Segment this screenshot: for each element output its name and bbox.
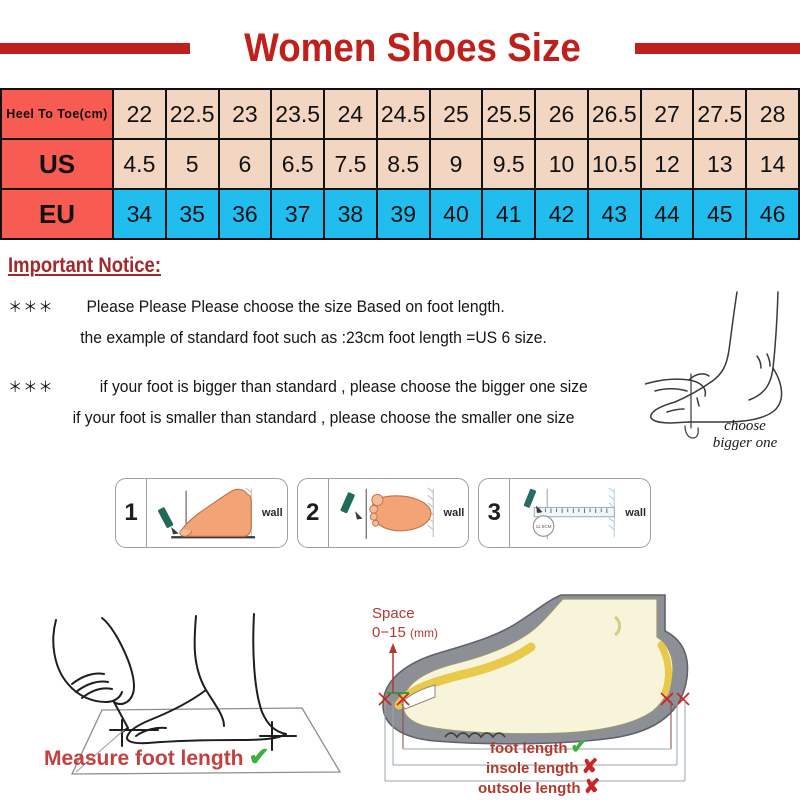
cell-eu-8: 42 <box>535 189 588 239</box>
step-2-wall-label: wall <box>444 507 465 519</box>
cell-cm-4: 24 <box>324 89 377 139</box>
table-row-eu: EU 34 35 36 37 38 39 40 41 42 43 44 45 4… <box>1 189 799 239</box>
row-label-eu: EU <box>1 189 113 239</box>
row-label-us: US <box>1 139 113 189</box>
cell-us-9: 10.5 <box>588 139 641 189</box>
cell-eu-1: 35 <box>166 189 219 239</box>
step-2-number: 2 <box>298 479 329 547</box>
cell-cm-12: 28 <box>746 89 799 139</box>
insole-length-label: insole length <box>486 760 579 777</box>
cell-cm-7: 25.5 <box>482 89 535 139</box>
important-notice-body: ＊＊＊ Please Please Please choose the size… <box>8 292 698 434</box>
page-title: Women Shoes Size <box>208 28 617 68</box>
notice-line-3: ＊＊＊ if your foot is bigger than standard… <box>8 372 664 403</box>
step-box-1: 1 <box>115 478 288 548</box>
cell-eu-7: 41 <box>482 189 535 239</box>
cell-us-0: 4.5 <box>113 139 166 189</box>
choose-bigger-one-caption: choose bigger one <box>690 418 800 452</box>
title-rule-left <box>0 43 190 54</box>
step-2-illustration: wall <box>329 479 469 547</box>
notice-line-2-text: the example of standard foot such as :23… <box>80 329 547 347</box>
cell-eu-11: 45 <box>693 189 746 239</box>
step-1-illustration: wall <box>147 479 287 547</box>
cell-eu-5: 39 <box>377 189 430 239</box>
cell-cm-2: 23 <box>219 89 272 139</box>
title-rule-right <box>635 43 800 54</box>
outsole-length-row: outsole length✘ <box>478 778 600 798</box>
step-1-number: 1 <box>116 479 147 547</box>
cell-us-2: 6 <box>219 139 272 189</box>
space-gap-label: Space 0−15 (mm) <box>372 604 438 643</box>
cell-eu-2: 36 <box>219 189 272 239</box>
notice-line-3-text: if your foot is bigger than standard , p… <box>100 378 588 396</box>
cell-us-12: 14 <box>746 139 799 189</box>
cell-us-4: 7.5 <box>324 139 377 189</box>
space-label-line-2: 0−15 (mm) <box>372 623 438 643</box>
cell-eu-12: 46 <box>746 189 799 239</box>
space-range-value: 0−15 <box>372 624 406 641</box>
cell-eu-6: 40 <box>430 189 483 239</box>
notice-stars-1: ＊＊＊ <box>8 299 54 316</box>
table-row-heel-to-toe: Heel To Toe(cm) 22 22.5 23 23.5 24 24.5 … <box>1 89 799 139</box>
cell-cm-6: 25 <box>430 89 483 139</box>
notice-line-2: the example of standard foot such as :23… <box>8 323 664 354</box>
step-3-number: 3 <box>479 479 510 547</box>
measure-foot-length-label: Measure foot length✔ <box>44 742 269 772</box>
cell-us-6: 9 <box>430 139 483 189</box>
cell-eu-0: 34 <box>113 189 166 239</box>
notice-stars-2: ＊＊＊ <box>8 379 54 396</box>
measure-steps-row: 1 <box>115 478 651 548</box>
cell-cm-8: 26 <box>535 89 588 139</box>
notice-spacer <box>8 354 698 372</box>
cell-eu-4: 38 <box>324 189 377 239</box>
outsole-length-label: outsole length <box>478 780 581 797</box>
cell-cm-9: 26.5 <box>588 89 641 139</box>
step-3-wall-label: wall <box>625 507 646 519</box>
notice-line-1: ＊＊＊ Please Please Please choose the size… <box>8 292 664 323</box>
foot-length-row: foot length✔ <box>478 738 600 758</box>
cell-us-7: 9.5 <box>482 139 535 189</box>
measure-foot-length-text: Measure foot length <box>44 747 244 770</box>
foot-length-check-icon: ✔ <box>570 736 587 758</box>
insole-length-cross-icon: ✘ <box>582 756 599 778</box>
cell-cm-5: 24.5 <box>377 89 430 139</box>
cell-us-1: 5 <box>166 139 219 189</box>
cell-us-11: 13 <box>693 139 746 189</box>
space-unit: (mm) <box>410 626 438 640</box>
measure-check-icon: ✔ <box>249 743 270 771</box>
choose-caption-line-2: bigger one <box>690 435 800 452</box>
cell-cm-1: 22.5 <box>166 89 219 139</box>
step-box-3: 3 <box>478 478 651 548</box>
cell-us-5: 8.5 <box>377 139 430 189</box>
cell-cm-11: 27.5 <box>693 89 746 139</box>
cell-eu-9: 43 <box>588 189 641 239</box>
step-3-illustration: 11.5CM wall <box>510 479 650 547</box>
cell-us-10: 12 <box>641 139 694 189</box>
cell-eu-3: 37 <box>271 189 324 239</box>
notice-line-4-text: if your foot is smaller than standard , … <box>73 409 575 427</box>
step-3-ruler-mark: 11.5CM <box>536 524 552 529</box>
space-label-line-1: Space <box>372 604 438 623</box>
cell-us-8: 10 <box>535 139 588 189</box>
length-legend: foot length✔ insole length✘ outsole leng… <box>478 738 600 798</box>
step-1-wall-label: wall <box>262 507 283 519</box>
cell-eu-10: 44 <box>641 189 694 239</box>
cell-cm-3: 23.5 <box>271 89 324 139</box>
shoe-size-table: Heel To Toe(cm) 22 22.5 23 23.5 24 24.5 … <box>0 88 800 240</box>
foot-length-label: foot length <box>490 740 567 757</box>
important-notice-heading: Important Notice: <box>8 254 161 278</box>
table-row-us: US 4.5 5 6 6.5 7.5 8.5 9 9.5 10 10.5 12 … <box>1 139 799 189</box>
cell-cm-0: 22 <box>113 89 166 139</box>
insole-length-row: insole length✘ <box>478 758 600 778</box>
step-box-2: 2 <box>297 478 470 548</box>
cell-cm-10: 27 <box>641 89 694 139</box>
notice-line-1-text: Please Please Please choose the size Bas… <box>86 298 504 316</box>
row-label-heel-to-toe: Heel To Toe(cm) <box>1 89 113 139</box>
page-title-banner: Women Shoes Size <box>0 22 800 74</box>
outsole-length-cross-icon: ✘ <box>584 776 601 798</box>
choose-caption-line-1: choose <box>690 418 800 435</box>
notice-line-4: if your foot is smaller than standard , … <box>8 403 664 434</box>
cell-us-3: 6.5 <box>271 139 324 189</box>
